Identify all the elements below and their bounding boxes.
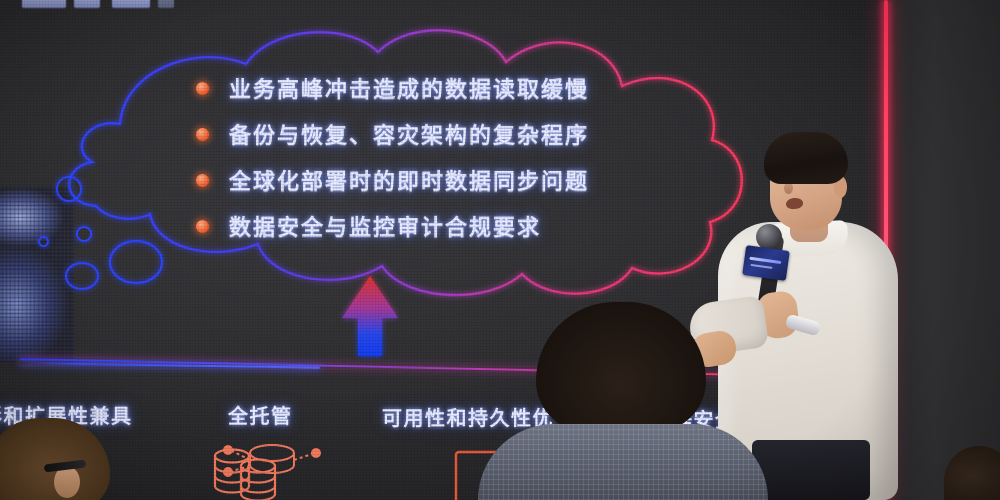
- speaker-trousers: [752, 440, 870, 500]
- bullet-text: 业务高峰冲击造成的数据读取缓慢: [229, 72, 589, 104]
- bullet-text: 备份与恢复、容灾架构的复杂程序: [229, 118, 589, 150]
- list-item: 数据安全与监控审计合规要求: [196, 210, 636, 242]
- list-item: 业务高峰冲击造成的数据读取缓慢: [196, 72, 636, 104]
- feature-label-3: 可用性和持久性优: [382, 402, 554, 431]
- list-item: 全球化部署时的即时数据同步问题: [196, 164, 636, 196]
- bullet-dot-icon: [196, 174, 209, 187]
- bullet-dot-icon: [196, 128, 209, 141]
- photo-scene: 业务高峰冲击造成的数据读取缓慢 备份与恢复、容灾架构的复杂程序 全球化部署时的即…: [0, 0, 1000, 500]
- microphone-flag: [742, 245, 790, 281]
- managed-cluster-icon: [212, 438, 332, 486]
- slide-bullet-list: 业务高峰冲击造成的数据读取缓慢 备份与恢复、容灾架构的复杂程序 全球化部署时的即…: [196, 72, 636, 256]
- bullet-text: 全球化部署时的即时数据同步问题: [229, 164, 589, 196]
- speaker-hair: [764, 132, 848, 184]
- audience-center-blazer: [478, 424, 768, 500]
- feature-label-2: 全托管: [228, 400, 293, 429]
- bullet-dot-icon: [196, 82, 209, 95]
- list-item: 备份与恢复、容灾架构的复杂程序: [196, 118, 636, 150]
- up-arrow-icon: [342, 276, 398, 356]
- bullet-dot-icon: [196, 220, 209, 233]
- bullet-text: 数据安全与监控审计合规要求: [229, 210, 541, 242]
- wall-right-panel: [890, 0, 1000, 500]
